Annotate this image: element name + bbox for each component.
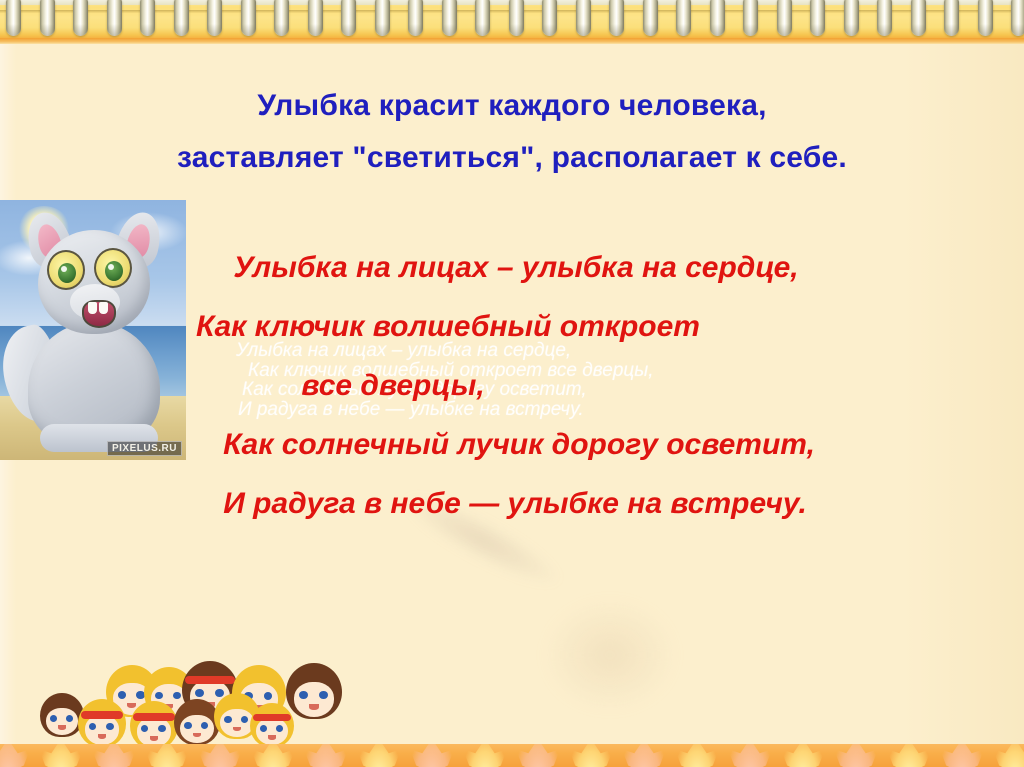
child-eye: [201, 722, 208, 729]
spiral-ring: [241, 0, 256, 36]
child-eye: [184, 722, 191, 729]
child-mouth: [309, 704, 319, 710]
band-leaf-icon: [251, 744, 295, 767]
child-face: [220, 709, 253, 738]
spiral-ring: [408, 0, 423, 36]
poem-line-4: Как солнечный лучик дорогу осветит,: [0, 415, 1024, 474]
band-leaf-icon: [145, 744, 189, 767]
band-leaf-icon: [569, 744, 613, 767]
band-leaf-icon: [940, 744, 984, 767]
presentation-slide: PIXELUS.RU Улыбка красит каждого человек…: [0, 0, 1024, 767]
spiral-ring: [140, 0, 155, 36]
slide-heading: Улыбка красит каждого человека, заставля…: [0, 80, 1024, 184]
poem-text: Улыбка на лицах – улыбка на сердце, Как …: [0, 238, 1024, 533]
child-head: [40, 693, 84, 737]
child-eye: [264, 692, 273, 700]
band-leaf-icon: [728, 744, 772, 767]
band-leaf-icon: [834, 744, 878, 767]
children-image: [18, 661, 308, 743]
child-head: [174, 699, 220, 745]
child-eye: [173, 692, 181, 699]
spiral-ring: [6, 0, 21, 36]
child-mouth: [268, 735, 276, 739]
child-face: [46, 708, 78, 735]
child-headband: [133, 713, 175, 720]
child-eye: [89, 723, 97, 730]
spiral-ring: [274, 0, 289, 36]
child-eye: [50, 715, 57, 722]
child-face: [294, 682, 334, 717]
poem-line-5: И радуга в небе — улыбке на встречу.: [0, 474, 1024, 533]
child-eye: [158, 725, 166, 732]
poem-line-3: все дверцы,: [0, 356, 1024, 415]
child-eye: [319, 691, 328, 699]
spiral-ring: [73, 0, 88, 36]
poem-line-1: Улыбка на лицах – улыбка на сердце,: [0, 238, 1024, 297]
child-eye: [118, 691, 126, 699]
child-head: [286, 663, 342, 719]
child-face: [85, 715, 120, 745]
spiral-ring: [375, 0, 390, 36]
child-eye: [260, 725, 267, 732]
band-leaf-icon: [675, 744, 719, 767]
spiral-ring: [341, 0, 356, 36]
child-headband: [185, 676, 234, 684]
spiral-ring: [475, 0, 490, 36]
spiral-ring: [442, 0, 457, 36]
band-leaf-icon: [198, 744, 242, 767]
spiral-ring: [777, 0, 792, 36]
child-eye: [155, 692, 163, 699]
child-eye: [276, 725, 283, 732]
spiral-ring: [1011, 0, 1024, 36]
band-leaf-icon: [781, 744, 825, 767]
band-leaf-icon: [39, 744, 83, 767]
spiral-ring: [509, 0, 524, 36]
child-head: [78, 699, 126, 747]
child-mouth: [58, 725, 66, 729]
spiral-ring: [308, 0, 323, 36]
spiral-binding: [0, 0, 1024, 44]
child-eye: [66, 715, 73, 722]
child-headband: [81, 711, 123, 718]
child-face: [256, 718, 288, 745]
child-mouth: [233, 727, 241, 732]
spiral-ring: [609, 0, 624, 36]
band-leaf-icon: [304, 744, 348, 767]
spiral-ring: [676, 0, 691, 36]
band-leaf-icon: [92, 744, 136, 767]
band-leaf-icon: [622, 744, 666, 767]
child-mouth: [98, 734, 106, 739]
child-mouth: [193, 733, 201, 738]
binding-bottom-edge: [0, 38, 1024, 44]
spiral-ring: [40, 0, 55, 36]
child-mouth: [127, 703, 136, 708]
band-leaf-icon: [993, 744, 1024, 767]
spiral-ring: [911, 0, 926, 36]
child-eye: [215, 689, 224, 697]
spiral-ring: [207, 0, 222, 36]
heading-line-2: заставляет "светиться", располагает к се…: [0, 132, 1024, 184]
band-leaf-icon: [0, 744, 30, 767]
child-eye: [241, 716, 248, 723]
spiral-ring: [576, 0, 591, 36]
spiral-ring: [710, 0, 725, 36]
spiral-ring: [978, 0, 993, 36]
spiral-ring: [844, 0, 859, 36]
spiral-ring: [944, 0, 959, 36]
spiral-ring: [174, 0, 189, 36]
child-headband: [253, 714, 292, 721]
spiral-ring: [542, 0, 557, 36]
child-head: [130, 701, 178, 749]
band-leaf-icon: [516, 744, 560, 767]
bottom-decorative-band: [0, 744, 1024, 767]
poem-line-2: Как ключик волшебный откроет: [0, 297, 1024, 356]
spiral-ring: [810, 0, 825, 36]
band-leaf-icon: [887, 744, 931, 767]
child-eye: [224, 716, 231, 723]
spiral-ring: [107, 0, 122, 36]
spiral-ring: [743, 0, 758, 36]
child-head: [250, 703, 294, 747]
spiral-ring: [877, 0, 892, 36]
band-leaf-icon: [463, 744, 507, 767]
child-face: [180, 715, 213, 744]
band-leaf-icon: [410, 744, 454, 767]
child-eye: [141, 725, 149, 732]
child-eye: [195, 689, 204, 697]
paper-highlight: [545, 600, 675, 710]
child-eye: [106, 723, 114, 730]
spiral-ring: [643, 0, 658, 36]
child-eye: [299, 691, 308, 699]
child-mouth: [150, 736, 158, 741]
band-leaf-icon: [357, 744, 401, 767]
child-face: [137, 717, 172, 747]
heading-line-1: Улыбка красит каждого человека,: [0, 80, 1024, 132]
